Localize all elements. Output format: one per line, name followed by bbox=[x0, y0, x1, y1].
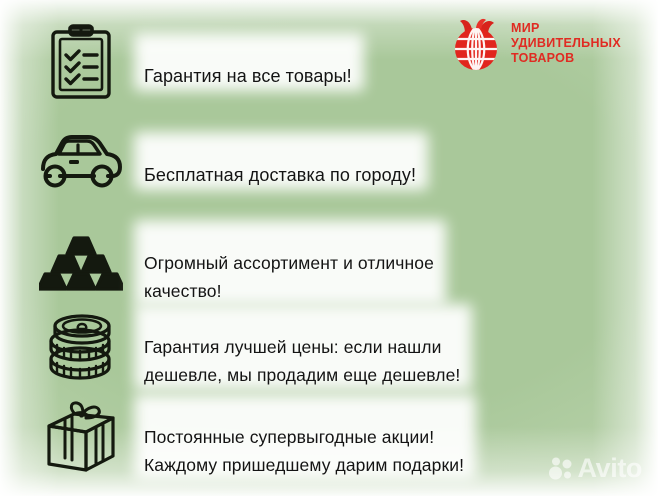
avito-watermark: Avito bbox=[548, 455, 643, 482]
feature-item-best-price: Гарантия лучшей цены: если нашли дешевле… bbox=[28, 302, 472, 392]
feature-item-guarantee: Гарантия на все товары! bbox=[28, 24, 364, 100]
gold-bars-icon bbox=[28, 234, 134, 292]
coin-stack-icon bbox=[28, 311, 134, 383]
promo-banner: МИР УДИВИТЕЛЬНЫХ ТОВАРОВ bbox=[0, 0, 658, 496]
avito-dots-icon bbox=[548, 456, 574, 482]
gift-box-icon bbox=[28, 400, 134, 474]
feature-text-best-price: Гарантия лучшей цены: если нашли дешевле… bbox=[134, 302, 472, 392]
feature-text-assortment: Огромный ассортимент и отличное качество… bbox=[134, 218, 446, 308]
car-icon bbox=[28, 133, 134, 189]
feature-text-delivery: Бесплатная доставка по городу! bbox=[134, 130, 428, 192]
feature-text-promotions: Постоянные супервыгодные акции! Каждому … bbox=[134, 392, 476, 482]
feature-list: Гарантия на все товары! Бесплатная доста… bbox=[0, 0, 658, 496]
avito-wordmark: Avito bbox=[578, 455, 643, 482]
feature-item-delivery: Бесплатная доставка по городу! bbox=[28, 130, 428, 192]
feature-item-assortment: Огромный ассортимент и отличное качество… bbox=[28, 218, 446, 308]
feature-text-guarantee: Гарантия на все товары! bbox=[134, 31, 364, 93]
clipboard-checklist-icon bbox=[28, 24, 134, 100]
feature-item-promotions: Постоянные супервыгодные акции! Каждому … bbox=[28, 392, 476, 482]
